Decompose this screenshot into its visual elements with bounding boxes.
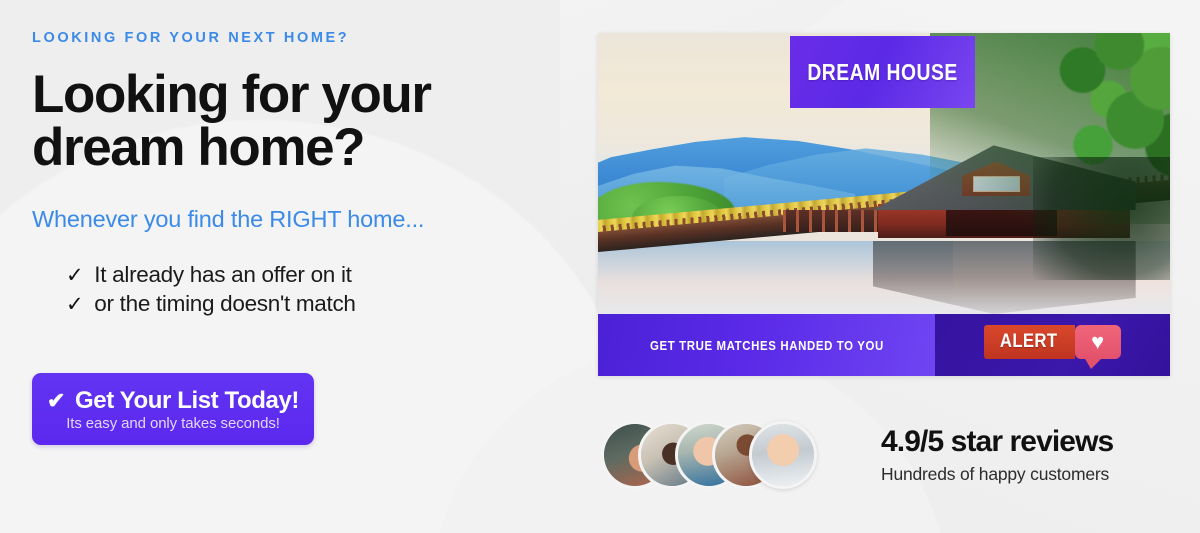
avatar-photo (752, 424, 814, 486)
photo-tree-shadow (1033, 157, 1170, 281)
review-rating-title: 4.9/5 star reviews (881, 426, 1113, 458)
alert-badge-box: ALERT (984, 325, 1074, 359)
review-text-block: 4.9/5 star reviews Hundreds of happy cus… (881, 426, 1113, 486)
page-title: Looking for your dream home? (32, 69, 572, 174)
checkmark-icon: ✔ (47, 388, 65, 414)
eyebrow-text: LOOKING FOR YOUR NEXT HOME? (32, 30, 572, 47)
cta-sublabel: Its easy and only takes seconds! (66, 415, 280, 432)
avatar-stack (601, 419, 801, 493)
check-icon: ✓ (66, 264, 83, 287)
promo-card[interactable]: DREAM HOUSE GET TRUE MATCHES HANDED TO Y… (598, 33, 1170, 376)
promo-card-footer: GET TRUE MATCHES HANDED TO YOU ALERT ♥ (598, 314, 1170, 376)
alert-bubble: ♥ (1075, 325, 1121, 359)
check-icon: ✓ (66, 293, 83, 316)
list-item: ✓ It already has an offer on it (66, 263, 572, 288)
dream-house-banner-label: DREAM HOUSE (807, 59, 957, 86)
alert-badge: ALERT ♥ (984, 325, 1120, 359)
list-item-label: It already has an offer on it (94, 263, 351, 288)
promo-tagline-label: GET TRUE MATCHES HANDED TO YOU (650, 338, 884, 353)
subheadline-text: Whenever you find the RIGHT home... (32, 206, 572, 233)
promo-tagline-panel: GET TRUE MATCHES HANDED TO YOU (598, 314, 935, 376)
review-subtitle: Hundreds of happy customers (881, 464, 1113, 485)
social-proof-row: 4.9/5 star reviews Hundreds of happy cus… (598, 408, 1170, 503)
dream-house-banner: DREAM HOUSE (790, 36, 975, 108)
cta-label: Get Your List Today! (75, 387, 299, 415)
heart-icon: ♥ (1091, 331, 1104, 353)
get-your-list-button[interactable]: ✔ Get Your List Today! Its easy and only… (32, 373, 314, 445)
pain-point-list: ✓ It already has an offer on it ✓ or the… (66, 263, 572, 317)
avatar (749, 421, 817, 489)
hero-copy-column: LOOKING FOR YOUR NEXT HOME? Looking for … (32, 30, 572, 317)
headline-line-1: Looking for your (32, 65, 431, 124)
headline-line-2: dream home? (32, 118, 364, 177)
cta-main-row: ✔ Get Your List Today! (42, 387, 304, 415)
landing-hero-page: LOOKING FOR YOUR NEXT HOME? Looking for … (0, 0, 1200, 533)
alert-badge-label: ALERT (1000, 331, 1057, 353)
promo-alert-panel: ALERT ♥ (935, 314, 1170, 376)
list-item: ✓ or the timing doesn't match (66, 292, 572, 317)
list-item-label: or the timing doesn't match (94, 292, 355, 317)
